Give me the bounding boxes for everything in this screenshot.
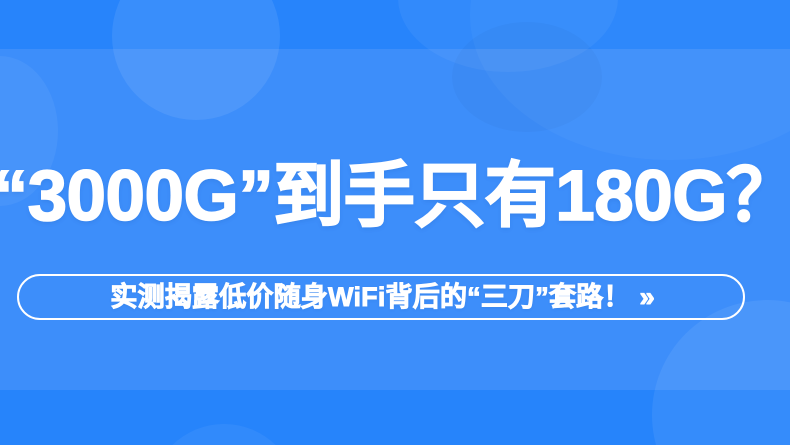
decorative-circle-top-center (112, 0, 280, 120)
decorative-circle-bottom-right (652, 300, 790, 445)
page-title: “3000G”到手只有180G？ (0, 148, 790, 244)
subtitle-pill[interactable]: 实测揭露低价随身WiFi背后的“三刀”套路！ » (17, 274, 745, 320)
decorative-sheen-top-right (470, 0, 790, 160)
chevron-right-double-icon: » (640, 284, 652, 311)
promo-banner: “3000G”到手只有180G？ 实测揭露低价随身WiFi背后的“三刀”套路！ … (0, 0, 790, 445)
decorative-circle-shadow-lobe (452, 22, 602, 132)
decorative-circle-bottom-center (150, 424, 298, 445)
decorative-circle-top-right-crest (398, 0, 618, 72)
background-band-bottom (0, 390, 790, 445)
background-band-top (0, 0, 790, 49)
subtitle-text: 实测揭露低价随身WiFi背后的“三刀”套路！ (110, 284, 630, 311)
